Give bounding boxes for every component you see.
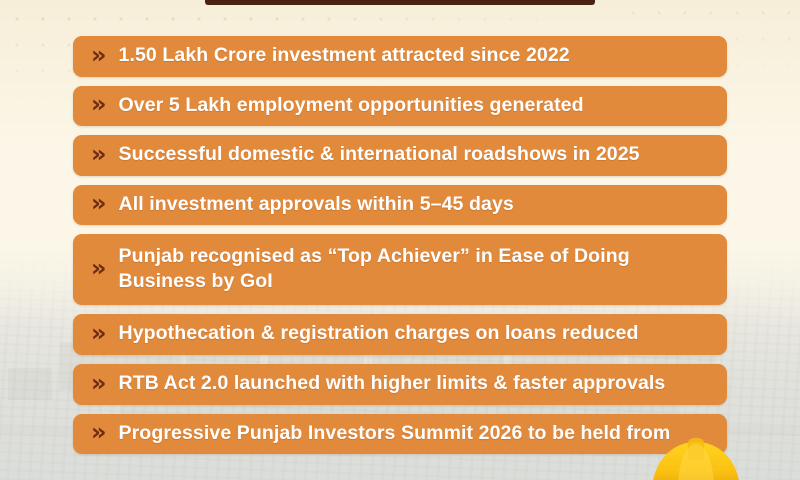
hard-hat-icon — [648, 430, 744, 480]
list-item-label: 1.50 Lakh Crore investment attracted sin… — [119, 43, 570, 68]
list-item[interactable]: » Progressive Punjab Investors Summit 20… — [73, 414, 727, 455]
list-item[interactable]: » Over 5 Lakh employment opportunities g… — [73, 86, 727, 127]
list-item[interactable]: » Hypothecation & registration charges o… — [73, 314, 727, 355]
double-chevron-icon: » — [91, 256, 106, 280]
double-chevron-icon: » — [91, 92, 106, 116]
list-item[interactable]: » 1.50 Lakh Crore investment attracted s… — [73, 36, 727, 77]
double-chevron-icon: » — [91, 43, 106, 67]
double-chevron-icon: » — [91, 420, 106, 444]
list-item-label: Over 5 Lakh employment opportunities gen… — [119, 93, 584, 118]
list-item-label: All investment approvals within 5–45 day… — [119, 192, 514, 217]
list-item-label: Hypothecation & registration charges on … — [119, 321, 639, 346]
list-item-label: Successful domestic & international road… — [119, 142, 640, 167]
list-item[interactable]: » All investment approvals within 5–45 d… — [73, 185, 727, 226]
double-chevron-icon: » — [91, 191, 106, 215]
list-item-label: Progressive Punjab Investors Summit 2026… — [119, 421, 671, 446]
list-item-label: Punjab recognised as “Top Achiever” in E… — [119, 244, 711, 293]
list-item-label: RTB Act 2.0 launched with higher limits … — [119, 371, 666, 396]
double-chevron-icon: » — [91, 321, 106, 345]
title-banner-cropped — [205, 0, 595, 5]
double-chevron-icon: » — [91, 142, 106, 166]
double-chevron-icon: » — [91, 371, 106, 395]
list-item[interactable]: » RTB Act 2.0 launched with higher limit… — [73, 364, 727, 405]
highlights-list: » 1.50 Lakh Crore investment attracted s… — [73, 36, 727, 454]
list-item[interactable]: » Successful domestic & international ro… — [73, 135, 727, 176]
list-item[interactable]: » Punjab recognised as “Top Achiever” in… — [73, 234, 727, 305]
